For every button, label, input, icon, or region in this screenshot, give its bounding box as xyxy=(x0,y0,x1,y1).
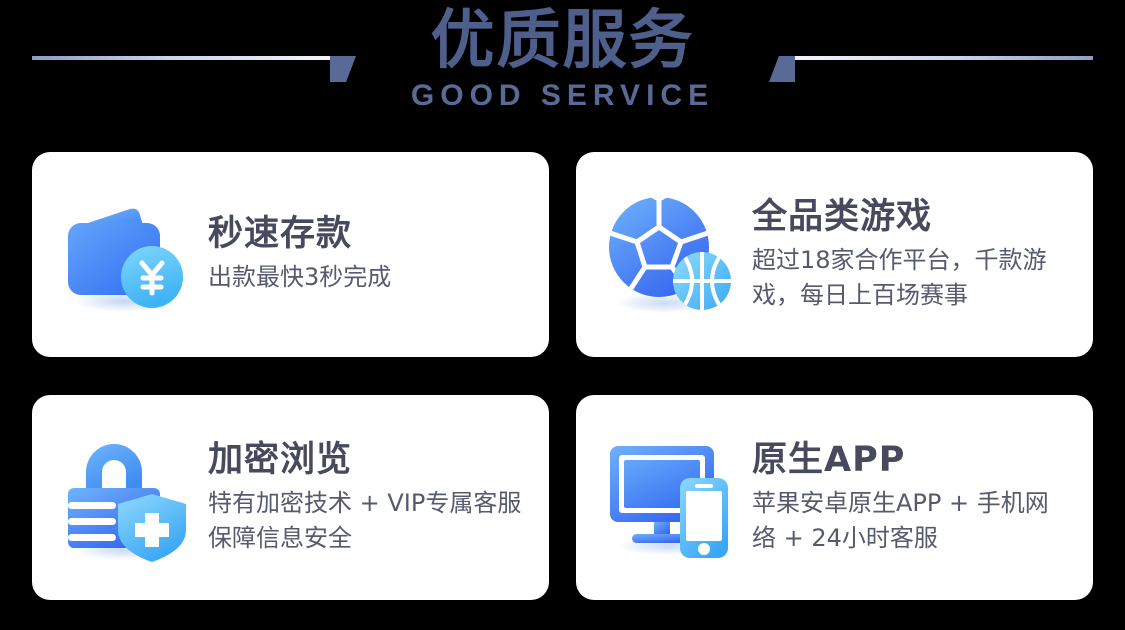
decoration-tip-left xyxy=(330,56,356,82)
decoration-tip-right xyxy=(769,56,795,82)
feature-card-games[interactable]: 全品类游戏 超过18家合作平台，千款游戏，每日上百场赛事 xyxy=(576,152,1093,357)
lock-shield-icon xyxy=(58,428,198,568)
feature-card-native-app[interactable]: 原生APP 苹果安卓原生APP + 手机网络 + 24小时客服 xyxy=(576,395,1093,600)
card-description: 特有加密技术 + VIP专属客服保障信息安全 xyxy=(208,486,527,556)
page-root: 优质服务 GOOD SERVICE xyxy=(0,0,1125,630)
page-subtitle: GOOD SERVICE xyxy=(411,79,714,113)
header-decoration-left xyxy=(32,56,356,82)
card-description: 超过18家合作平台，千款游戏，每日上百场赛事 xyxy=(752,243,1071,313)
soccer-basketball-icon xyxy=(602,185,742,325)
card-title: 秒速存款 xyxy=(208,214,527,254)
feature-card-grid: 秒速存款 出款最快3秒完成 xyxy=(32,152,1093,600)
feature-card-text: 原生APP 苹果安卓原生APP + 手机网络 + 24小时客服 xyxy=(752,440,1071,556)
card-title: 加密浏览 xyxy=(208,440,527,480)
monitor-phone-icon xyxy=(602,428,742,568)
feature-card-text: 全品类游戏 超过18家合作平台，千款游戏，每日上百场赛事 xyxy=(752,197,1071,313)
page-title: 优质服务 xyxy=(411,8,714,75)
feature-card-encryption[interactable]: 加密浏览 特有加密技术 + VIP专属客服保障信息安全 xyxy=(32,395,549,600)
card-description: 苹果安卓原生APP + 手机网络 + 24小时客服 xyxy=(752,486,1071,556)
decoration-line-right xyxy=(793,56,1093,60)
page-header: 优质服务 GOOD SERVICE xyxy=(0,0,1125,150)
decoration-line-left xyxy=(32,56,332,60)
card-description: 出款最快3秒完成 xyxy=(208,260,527,295)
wallet-yen-icon xyxy=(58,185,198,325)
header-decoration-right xyxy=(769,56,1093,82)
card-title: 原生APP xyxy=(752,440,1071,480)
feature-card-deposit[interactable]: 秒速存款 出款最快3秒完成 xyxy=(32,152,549,357)
feature-card-text: 加密浏览 特有加密技术 + VIP专属客服保障信息安全 xyxy=(208,440,527,556)
feature-card-text: 秒速存款 出款最快3秒完成 xyxy=(208,214,527,295)
header-title-block: 优质服务 GOOD SERVICE xyxy=(411,0,714,113)
card-title: 全品类游戏 xyxy=(752,197,1071,237)
